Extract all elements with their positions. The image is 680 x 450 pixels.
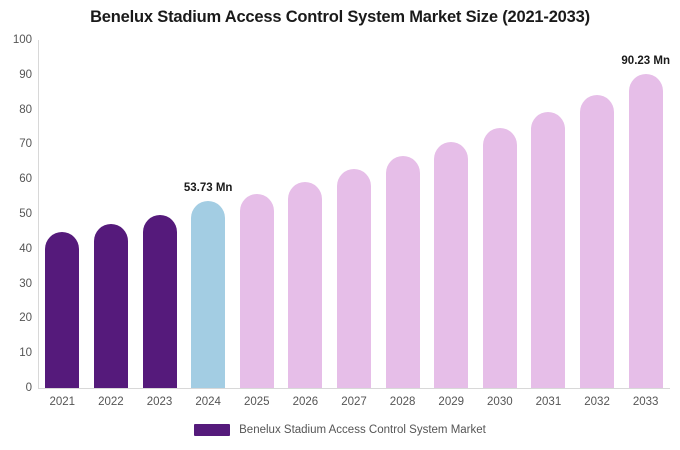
y-axis-tick-labels: 0102030405060708090100 bbox=[0, 40, 32, 388]
y-axis-tick: 10 bbox=[0, 347, 32, 359]
x-axis-tick-labels: 2021202220232024202520262027202820292030… bbox=[38, 392, 670, 412]
bar-slot bbox=[434, 40, 468, 388]
y-axis-tick: 20 bbox=[0, 312, 32, 324]
y-axis-tick: 40 bbox=[0, 243, 32, 255]
bar-slot bbox=[45, 40, 79, 388]
y-axis-tick: 0 bbox=[0, 382, 32, 394]
x-axis-tick-2032: 2032 bbox=[573, 396, 622, 408]
x-axis-tick-2022: 2022 bbox=[87, 396, 136, 408]
bar-2023[interactable] bbox=[143, 215, 177, 388]
bar-slot: 53.73 Mn bbox=[191, 40, 225, 388]
bar-value-label-2033: 90.23 Mn bbox=[621, 55, 670, 67]
bar-value-label-2024: 53.73 Mn bbox=[184, 182, 233, 194]
bar-2022[interactable] bbox=[94, 224, 128, 388]
bar-2033[interactable] bbox=[629, 74, 663, 388]
x-axis-line bbox=[38, 388, 670, 389]
bar-slot bbox=[143, 40, 177, 388]
bar-slot bbox=[240, 40, 274, 388]
x-axis-tick-2024: 2024 bbox=[184, 396, 233, 408]
chart-title: Benelux Stadium Access Control System Ma… bbox=[0, 8, 680, 27]
x-axis-tick-2029: 2029 bbox=[427, 396, 476, 408]
x-axis-tick-2028: 2028 bbox=[378, 396, 427, 408]
bar-slot bbox=[580, 40, 614, 388]
x-axis-tick-2025: 2025 bbox=[232, 396, 281, 408]
bar-slot bbox=[288, 40, 322, 388]
x-axis-tick-2033: 2033 bbox=[621, 396, 670, 408]
bar-2024[interactable] bbox=[191, 201, 225, 388]
legend-swatch-market bbox=[194, 424, 230, 436]
y-axis-tick: 90 bbox=[0, 69, 32, 81]
bar-slot bbox=[386, 40, 420, 388]
bar-slot bbox=[94, 40, 128, 388]
bar-2028[interactable] bbox=[386, 156, 420, 388]
bar-2025[interactable] bbox=[240, 194, 274, 388]
x-axis-tick-2021: 2021 bbox=[38, 396, 87, 408]
bar-slot bbox=[483, 40, 517, 388]
bar-series-group: 53.73 Mn90.23 Mn bbox=[38, 40, 670, 388]
x-axis-tick-2030: 2030 bbox=[476, 396, 525, 408]
y-axis-tick: 70 bbox=[0, 138, 32, 150]
x-axis-tick-2026: 2026 bbox=[281, 396, 330, 408]
bar-2029[interactable] bbox=[434, 142, 468, 388]
x-axis-tick-2031: 2031 bbox=[524, 396, 573, 408]
x-axis-tick-2023: 2023 bbox=[135, 396, 184, 408]
y-axis-tick: 60 bbox=[0, 173, 32, 185]
bar-slot bbox=[531, 40, 565, 388]
bar-2027[interactable] bbox=[337, 169, 371, 388]
y-axis-tick: 30 bbox=[0, 278, 32, 290]
bar-2031[interactable] bbox=[531, 112, 565, 388]
bar-2021[interactable] bbox=[45, 232, 79, 388]
legend-label-market: Benelux Stadium Access Control System Ma… bbox=[239, 424, 486, 436]
bar-2032[interactable] bbox=[580, 95, 614, 388]
chart-legend: Benelux Stadium Access Control System Ma… bbox=[0, 424, 680, 436]
bar-2030[interactable] bbox=[483, 128, 517, 388]
bar-slot: 90.23 Mn bbox=[629, 40, 663, 388]
x-axis-tick-2027: 2027 bbox=[330, 396, 379, 408]
bar-2026[interactable] bbox=[288, 182, 322, 388]
y-axis-tick: 50 bbox=[0, 208, 32, 220]
y-axis-tick: 80 bbox=[0, 104, 32, 116]
bar-chart-container: Benelux Stadium Access Control System Ma… bbox=[0, 0, 680, 450]
y-axis-tick: 100 bbox=[0, 34, 32, 46]
bar-slot bbox=[337, 40, 371, 388]
